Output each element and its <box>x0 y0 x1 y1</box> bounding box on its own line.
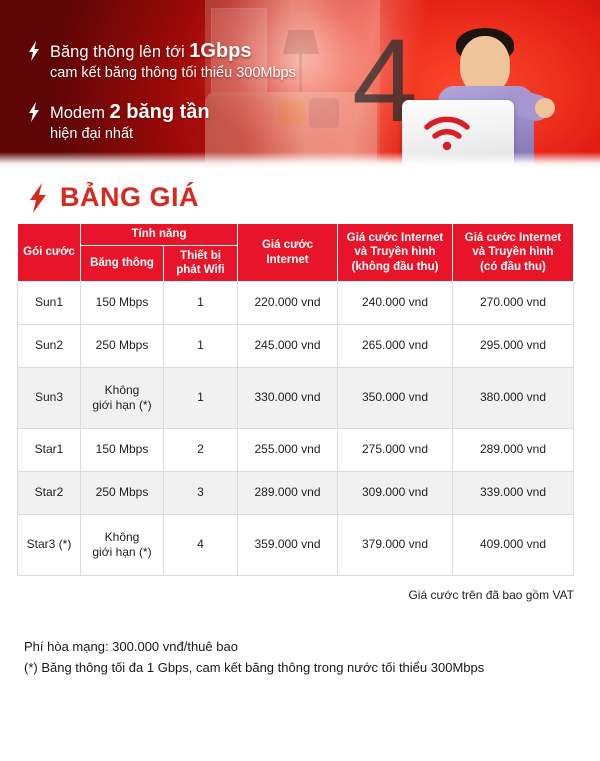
cell-tv-with-box: 409.000 vnd <box>453 515 574 576</box>
cell-internet-price: 289.000 vnd <box>238 472 338 515</box>
th-bandwidth: Băng thông <box>81 245 164 281</box>
th-wifi-device-l1: Thiết bị <box>180 250 221 262</box>
cell-wifi-devices: 1 <box>164 325 238 368</box>
price-table-head: Gói cước Tính năng Giá cước Internet Giá… <box>18 224 574 282</box>
th-tv-with-box: Giá cước Internet và Truyền hình (có đầu… <box>453 224 574 282</box>
bullet-2-highlight: 2 băng tần <box>110 101 210 123</box>
lightning-bolt-icon <box>28 99 40 122</box>
cell-tv-no-box: 309.000 vnd <box>338 472 453 515</box>
cell-wifi-devices: 1 <box>164 368 238 429</box>
asterisk-note: (*) Băng thông tối đa 1 Gbps, cam kết bă… <box>24 657 600 678</box>
cell-package: Sun2 <box>18 325 81 368</box>
th-tv-with-box-l3: (có đầu thu) <box>480 261 546 273</box>
cell-package: Star2 <box>18 472 81 515</box>
cell-tv-with-box: 339.000 vnd <box>453 472 574 515</box>
cell-internet-price: 220.000 vnd <box>238 282 338 325</box>
th-internet-price-l1: Giá cước <box>262 239 313 251</box>
cell-tv-no-box: 240.000 vnd <box>338 282 453 325</box>
price-table-body: Sun1 150 Mbps 1 220.000 vnd 240.000 vnd … <box>18 282 574 576</box>
th-features-group: Tính năng <box>81 224 238 246</box>
cell-wifi-devices: 4 <box>164 515 238 576</box>
table-row: Star2 250 Mbps 3 289.000 vnd 309.000 vnd… <box>18 472 574 515</box>
cell-bandwidth-l2: giới hạn (*) <box>92 545 151 559</box>
cell-bandwidth: 250 Mbps <box>81 325 164 368</box>
cell-package: Sun1 <box>18 282 81 325</box>
cell-internet-price: 330.000 vnd <box>238 368 338 429</box>
cell-bandwidth: 150 Mbps <box>81 282 164 325</box>
section-heading: BẢNG GIÁ <box>28 182 600 213</box>
banner-bullet-list: Băng thông lên tới 1Gbps cam kết băng th… <box>28 38 328 160</box>
th-tv-no-box-l1: Giá cước Internet <box>347 232 443 244</box>
cell-tv-no-box: 350.000 vnd <box>338 368 453 429</box>
cell-wifi-devices: 1 <box>164 282 238 325</box>
pointing-hand <box>535 98 555 118</box>
bullet-1-prefix: Băng thông lên tới <box>50 43 189 61</box>
th-tv-with-box-l1: Giá cước Internet <box>465 232 561 244</box>
th-wifi-device: Thiết bị phát Wifi <box>164 245 238 281</box>
th-package: Gói cước <box>18 224 81 282</box>
cell-bandwidth: Không giới hạn (*) <box>81 368 164 429</box>
banner-bullet-2-line2: hiện đại nhất <box>50 125 210 144</box>
cell-tv-no-box: 275.000 vnd <box>338 429 453 472</box>
table-row: Sun3 Không giới hạn (*) 1 330.000 vnd 35… <box>18 368 574 429</box>
th-tv-no-box-l2: và Truyền hình <box>354 246 435 258</box>
page-title: BẢNG GIÁ <box>60 182 199 213</box>
cell-tv-with-box: 289.000 vnd <box>453 429 574 472</box>
th-wifi-device-l2: phát Wifi <box>176 264 224 276</box>
banner-bullet-2-line1: Modem 2 băng tần <box>50 99 210 125</box>
footer-notes: Phí hòa mạng: 300.000 vnđ/thuê bao (*) B… <box>24 636 600 678</box>
cell-bandwidth-l1: Không <box>105 530 140 544</box>
cell-bandwidth-l1: Không <box>105 383 140 397</box>
cell-tv-no-box: 379.000 vnd <box>338 515 453 576</box>
bullet-2-prefix: Modem <box>50 104 110 122</box>
install-fee-note: Phí hòa mạng: 300.000 vnđ/thuê bao <box>24 636 600 657</box>
price-table: Gói cước Tính năng Giá cước Internet Giá… <box>17 223 574 576</box>
cell-package: Star1 <box>18 429 81 472</box>
wifi-icon <box>424 116 470 152</box>
cell-internet-price: 245.000 vnd <box>238 325 338 368</box>
table-row: Star3 (*) Không giới hạn (*) 4 359.000 v… <box>18 515 574 576</box>
cell-bandwidth: 150 Mbps <box>81 429 164 472</box>
cell-bandwidth-l2: giới hạn (*) <box>92 398 151 412</box>
th-tv-no-box-l3: (không đầu thu) <box>352 261 439 273</box>
header-row-1: Gói cước Tính năng Giá cước Internet Giá… <box>18 224 574 246</box>
lightning-bolt-icon <box>28 183 48 213</box>
banner-bullet-1-text: Băng thông lên tới 1Gbps cam kết băng th… <box>50 38 296 83</box>
cell-package: Star3 (*) <box>18 515 81 576</box>
cell-tv-with-box: 380.000 vnd <box>453 368 574 429</box>
th-tv-with-box-l2: và Truyền hình <box>472 246 553 258</box>
cell-internet-price: 359.000 vnd <box>238 515 338 576</box>
promo-banner: 4 Băng thông lên tới 1Gbps cam kết bă <box>0 0 600 168</box>
th-internet-price: Giá cước Internet <box>238 224 338 282</box>
price-section: BẢNG GIÁ Gói cước Tính năng Giá cước Int… <box>0 182 600 678</box>
bullet-1-highlight: 1Gbps <box>189 40 251 62</box>
banner-bullet-1-line2: cam kết băng thông tối thiểu 300Mbps <box>50 64 296 83</box>
cell-wifi-devices: 2 <box>164 429 238 472</box>
person-with-laptop <box>430 26 550 168</box>
th-tv-no-box: Giá cước Internet và Truyền hình (không … <box>338 224 453 282</box>
vat-note: Giá cước trên đã bao gồm VAT <box>0 588 574 602</box>
cell-bandwidth: 250 Mbps <box>81 472 164 515</box>
cell-tv-with-box: 295.000 vnd <box>453 325 574 368</box>
banner-bullet-1-line1: Băng thông lên tới 1Gbps <box>50 38 296 64</box>
table-row: Star1 150 Mbps 2 255.000 vnd 275.000 vnd… <box>18 429 574 472</box>
cell-wifi-devices: 3 <box>164 472 238 515</box>
cell-tv-with-box: 270.000 vnd <box>453 282 574 325</box>
banner-bullet-1: Băng thông lên tới 1Gbps cam kết băng th… <box>28 38 328 83</box>
cell-tv-no-box: 265.000 vnd <box>338 325 453 368</box>
table-row: Sun1 150 Mbps 1 220.000 vnd 240.000 vnd … <box>18 282 574 325</box>
cell-bandwidth: Không giới hạn (*) <box>81 515 164 576</box>
cell-package: Sun3 <box>18 368 81 429</box>
th-internet-price-l2: Internet <box>266 254 308 266</box>
banner-bullet-2-text: Modem 2 băng tần hiện đại nhất <box>50 99 210 144</box>
banner-bullet-2: Modem 2 băng tần hiện đại nhất <box>28 99 328 144</box>
table-row: Sun2 250 Mbps 1 245.000 vnd 265.000 vnd … <box>18 325 574 368</box>
cell-internet-price: 255.000 vnd <box>238 429 338 472</box>
lightning-bolt-icon <box>28 38 40 61</box>
